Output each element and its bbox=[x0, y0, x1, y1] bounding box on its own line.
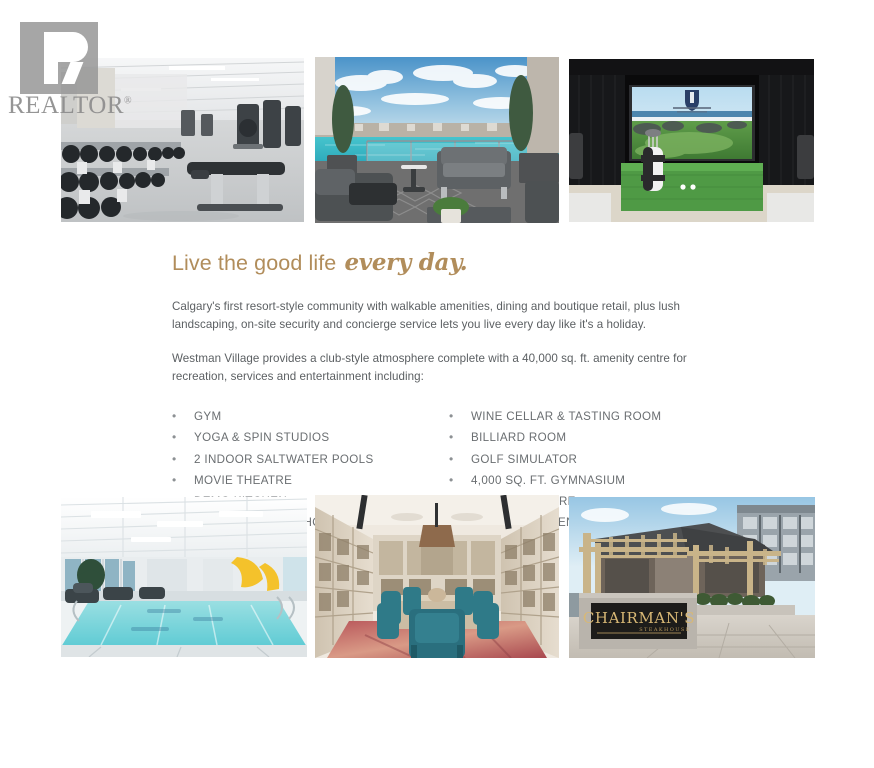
photo-golf-simulator bbox=[569, 59, 814, 222]
list-item: • GYM bbox=[172, 406, 445, 427]
list-item-label: 4,000 SQ. FT. GYMNASIUM bbox=[471, 471, 625, 491]
list-item-label: BILLIARD ROOM bbox=[471, 428, 566, 448]
list-item: • BILLIARD ROOM bbox=[449, 427, 718, 448]
brochure-page: Live the good life every day. Calgary's … bbox=[0, 0, 874, 768]
photo-gym bbox=[61, 58, 304, 222]
bullet-icon: • bbox=[449, 427, 471, 447]
content-block: Live the good life every day. Calgary's … bbox=[172, 249, 718, 534]
page-title: Live the good life every day. bbox=[172, 249, 718, 276]
intro-paragraph: Calgary's first resort-style community w… bbox=[172, 298, 718, 333]
bullet-icon: • bbox=[172, 427, 194, 447]
photo-exterior-chairmans: CHAIRMAN'S STEAKHOUSE bbox=[569, 497, 815, 658]
bullet-icon: • bbox=[449, 406, 471, 426]
list-item-label: GYM bbox=[194, 407, 221, 427]
list-item: • 4,000 SQ. FT. GYMNASIUM bbox=[449, 470, 718, 491]
bullet-icon: • bbox=[172, 406, 194, 426]
list-item: • GOLF SIMULATOR bbox=[449, 449, 718, 470]
list-item-label: YOGA & SPIN STUDIOS bbox=[194, 428, 330, 448]
list-item: • WINE CELLAR & TASTING ROOM bbox=[449, 406, 718, 427]
bullet-icon: • bbox=[172, 449, 194, 469]
bullet-icon: • bbox=[449, 449, 471, 469]
list-item: • 2 INDOOR SALTWATER POOLS bbox=[172, 449, 445, 470]
list-item-label: WINE CELLAR & TASTING ROOM bbox=[471, 407, 661, 427]
bullet-icon: • bbox=[172, 470, 194, 490]
list-item: • YOGA & SPIN STUDIOS bbox=[172, 427, 445, 448]
list-item-label: GOLF SIMULATOR bbox=[471, 450, 577, 470]
headline-plain: Live the good life bbox=[172, 251, 336, 275]
photo-pool bbox=[61, 497, 307, 657]
bullet-icon: • bbox=[449, 470, 471, 490]
photo-wine-cellar bbox=[315, 495, 559, 658]
list-item-label: MOVIE THEATRE bbox=[194, 471, 292, 491]
list-item: • MOVIE THEATRE bbox=[172, 470, 445, 491]
svg-text:CHAIRMAN'S: CHAIRMAN'S bbox=[583, 609, 695, 627]
svg-text:STEAKHOUSE: STEAKHOUSE bbox=[639, 627, 691, 633]
amenity-lead-paragraph: Westman Village provides a club-style at… bbox=[172, 350, 718, 385]
photo-patio bbox=[315, 57, 559, 223]
list-item-label: 2 INDOOR SALTWATER POOLS bbox=[194, 450, 374, 470]
headline-accent: every day. bbox=[344, 249, 467, 276]
